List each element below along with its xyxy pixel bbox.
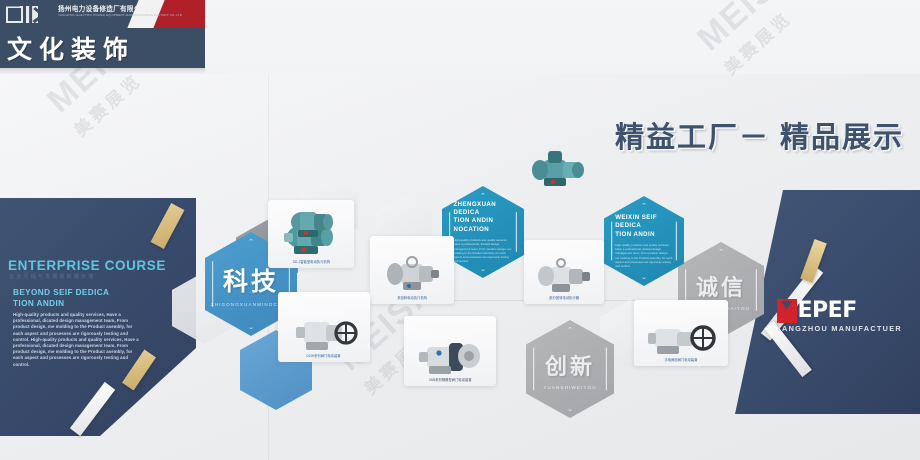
banner-title: 文化装饰	[0, 30, 135, 66]
company-name-en: YANGZHOU ELECTRIC POWER EQUIPMENT MANUFA…	[58, 13, 182, 17]
brand-y-mark-icon	[777, 299, 797, 323]
watermark-cn: 美赛展览	[717, 0, 830, 79]
hex-inner-ring	[533, 327, 607, 411]
actuator-icon	[415, 334, 485, 378]
panel-body-text: High-quality products and quality servic…	[13, 312, 141, 368]
brand-tagline: YANGZHOU MANUFACTUER	[777, 324, 902, 333]
product-card-3[interactable]: DZW系列阀门电动装置	[278, 292, 370, 362]
product-caption: 3SB系列隔爆型阀门电动装置	[429, 378, 472, 383]
product-caption: 多回转电动执行机构	[397, 296, 427, 301]
company-name-cn: 扬州电力设备修造厂有限公司	[58, 3, 178, 13]
actuator-icon	[286, 206, 338, 242]
banner-title-cut: 厂区	[0, 0, 60, 33]
panel-title-cn: 企业历程与发展成就展示墙	[9, 273, 95, 280]
watermark-topright: MEISAI 美赛展览	[690, 0, 830, 79]
brand-wordmark: EPEF	[798, 298, 857, 323]
poster-canvas: MEISAI 美赛展览 MEISAI 美赛展览 MEISAI 美赛展览 MEIS…	[0, 0, 920, 460]
actuator-icon	[290, 310, 358, 354]
product-float-7[interactable]	[528, 146, 590, 199]
product-caption: 部分回转电动执行器	[549, 296, 579, 301]
product-caption: 手电两用阀门电动装置	[664, 358, 697, 363]
product-caption: DZW系列阀门电动装置	[307, 354, 341, 359]
banner-drop-shadow	[0, 68, 205, 74]
product-card-4[interactable]: 3SB系列隔爆型阀门电动装置	[404, 316, 496, 386]
brand-logo-row: EPEF	[777, 298, 857, 323]
product-card-6[interactable]: 手电两用阀门电动装置	[634, 300, 728, 366]
product-float-8	[286, 206, 338, 247]
brand-logo: EPEF YANGZHOU MANUFACTUER	[777, 298, 902, 333]
panel-title-en: ENTERPRISE COURSE	[8, 258, 166, 273]
panel-subtitle: BEYOND SEIF DEDICA TION ANDIN	[13, 288, 109, 309]
product-card-2[interactable]: 多回转电动执行机构	[370, 236, 454, 304]
product-caption: SD-1智能型电动执行机构	[292, 260, 330, 265]
actuator-icon	[645, 318, 717, 358]
actuator-icon	[528, 146, 590, 194]
actuator-icon	[381, 254, 443, 296]
watermark-latin: MEISAI	[690, 0, 811, 58]
banner-title-bar: 文化装饰	[0, 28, 205, 68]
actuator-icon	[534, 256, 594, 296]
page-title: 精益工厂－ 精品展示	[615, 114, 904, 156]
product-card-5[interactable]: 部分回转电动执行器	[524, 240, 604, 304]
